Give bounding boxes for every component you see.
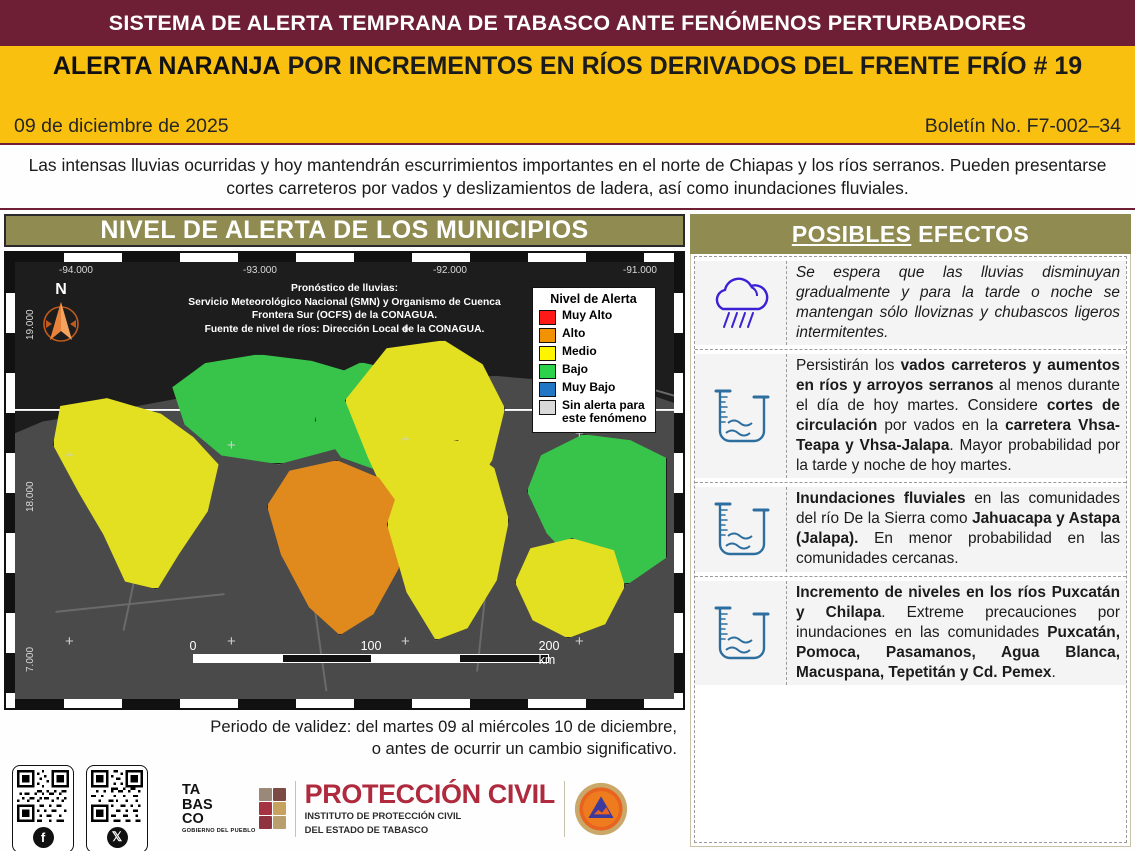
system-title-band: SISTEMA DE ALERTA TEMPRANA DE TABASCO AN…	[0, 0, 1135, 46]
bulletin-page: SISTEMA DE ALERTA TEMPRANA DE TABASCO AN…	[0, 0, 1135, 851]
tabasco-government-logo: TA BAS CO GOBIERNO DEL PUEBLO	[182, 783, 286, 834]
alert-meta: 09 de diciembre de 2025 Boletín No. F7-0…	[0, 115, 1135, 138]
x-twitter-icon: 𝕏	[107, 827, 128, 848]
effect-text-part: .	[1051, 664, 1055, 681]
map-y-tick: 7.000	[25, 647, 36, 672]
legend-swatch-sin-alerta	[539, 400, 556, 415]
map-legend: Nivel de Alerta Muy Alto Alto	[532, 287, 656, 433]
map-panel-header: NIVEL DE ALERTA DE LOS MUNICIPIOS	[4, 214, 685, 247]
map-neatline-left	[6, 253, 15, 708]
legend-title: Nivel de Alerta	[539, 292, 648, 306]
effect-icon-cell	[695, 487, 787, 571]
alert-band: ALERTA NARANJA POR INCREMENTOS EN RÍOS D…	[0, 46, 1135, 145]
map-x-tick: -91.000	[623, 265, 657, 276]
effects-panel-title: POSIBLES EFECTOS	[792, 221, 1029, 248]
scale-tick: 200 km	[539, 639, 560, 667]
brand-divider	[295, 781, 296, 837]
graticule-cross: +	[65, 448, 74, 463]
effect-icon-cell	[695, 581, 787, 685]
validity-line-2: o antes de ocurrir un cambio significati…	[4, 738, 677, 759]
legend-item-muy-alto: Muy Alto	[539, 309, 648, 325]
bulletin-date: 09 de diciembre de 2025	[14, 115, 229, 138]
map-x-tick: -92.000	[433, 265, 467, 276]
effects-title-underlined: POSIBLES	[792, 221, 912, 247]
validity-line-1: Periodo de validez: del martes 09 al mié…	[4, 716, 677, 737]
water-level-gauge-icon	[706, 383, 776, 449]
alert-level-label: ALERTA NARANJA	[53, 52, 281, 80]
map-x-tick: -93.000	[243, 265, 277, 276]
graticule-cross: +	[401, 322, 410, 337]
legend-swatch-alto	[539, 328, 556, 343]
legend-item-bajo: Bajo	[539, 363, 648, 379]
effect-item: Se espera que las lluvias disminuyan gra…	[695, 257, 1126, 350]
rain-cloud-icon	[709, 273, 773, 333]
effects-frame: Se espera que las lluvias disminuyan gra…	[694, 256, 1127, 843]
effect-icon-cell	[695, 261, 787, 345]
legend-label-alto: Alto	[562, 327, 585, 340]
tabasco-line-1: TA	[182, 783, 256, 798]
qr-x-twitter[interactable]: 𝕏	[86, 765, 148, 851]
map-canvas: + + + + + + + + + + -94.000 -93.000 -92.…	[15, 262, 674, 699]
system-title: SISTEMA DE ALERTA TEMPRANA DE TABASCO AN…	[109, 11, 1026, 36]
effect-item: Inundaciones fluviales en las comunidade…	[695, 483, 1126, 576]
summary-text: Las intensas lluvias ocurridas y hoy man…	[0, 145, 1135, 210]
effects-title-rest: EFECTOS	[911, 221, 1029, 247]
legend-swatch-muy-alto	[539, 310, 556, 325]
footer: f	[4, 765, 685, 851]
map-y-tick: 18.000	[25, 482, 36, 513]
legend-swatch-muy-bajo	[539, 382, 556, 397]
map-x-tick: -94.000	[59, 265, 93, 276]
scale-tick: 100	[361, 639, 382, 653]
map-column: NIVEL DE ALERTA DE LOS MUNICIPIOS	[4, 214, 685, 847]
map-scale-bar: 0 100 200 km	[193, 639, 549, 663]
effects-panel-header: POSIBLES EFECTOS	[690, 214, 1131, 254]
effect-text: Inundaciones fluviales en las comunidade…	[787, 487, 1126, 571]
brand-strip: TA BAS CO GOBIERNO DEL PUEBLO	[182, 781, 628, 837]
qr-facebook[interactable]: f	[12, 765, 74, 851]
map-neatline-right	[674, 253, 683, 708]
graticule-cross: +	[65, 634, 74, 649]
effect-text: Incremento de niveles en los ríos Puxcat…	[787, 581, 1126, 685]
effect-text-part-bold: Inundaciones fluviales	[796, 490, 966, 507]
map-neatline-bottom	[6, 699, 683, 708]
alert-reason-label: POR INCREMENTOS EN RÍOS DERIVADOS DEL FR…	[281, 52, 1083, 80]
proteccion-civil-seal-icon	[574, 782, 628, 836]
alert-map[interactable]: + + + + + + + + + + -94.000 -93.000 -92.…	[4, 251, 685, 710]
effects-panel: Se espera que las lluvias disminuyan gra…	[690, 254, 1131, 847]
tabasco-glyph-grid-icon	[259, 788, 286, 829]
bulletin-number: Boletín No. F7-002–34	[925, 115, 1121, 138]
compass-north-label: N	[39, 282, 83, 298]
effect-text-part: Se espera que las lluvias disminuyan gra…	[796, 264, 1120, 341]
legend-item-alto: Alto	[539, 327, 648, 343]
validity-note: Periodo de validez: del martes 09 al mié…	[4, 716, 685, 758]
qr-code-facebook-icon	[17, 770, 69, 822]
compass-rose: N	[39, 282, 83, 351]
water-level-gauge-icon	[706, 600, 776, 666]
facebook-icon: f	[33, 827, 54, 848]
proteccion-civil-sub-2: DEL ESTADO DE TABASCO	[305, 824, 555, 836]
legend-swatch-bajo	[539, 364, 556, 379]
legend-label-sin-alerta: Sin alerta para este fenómeno	[562, 399, 648, 425]
graticule-cross: +	[227, 438, 236, 453]
tabasco-line-2: BAS	[182, 798, 256, 813]
legend-label-muy-bajo: Muy Bajo	[562, 381, 615, 394]
water-level-gauge-icon	[706, 496, 776, 562]
map-panel-title: NIVEL DE ALERTA DE LOS MUNICIPIOS	[100, 216, 588, 245]
tabasco-line-3: CO	[182, 812, 256, 827]
tabasco-wordmark: TA BAS CO GOBIERNO DEL PUEBLO	[182, 783, 256, 834]
scale-bar-segments	[193, 654, 549, 663]
effect-text-part: por vados en la	[877, 417, 1005, 434]
effect-icon-cell	[695, 354, 787, 478]
proteccion-civil-sub-1: INSTITUTO DE PROTECCIÓN CIVIL	[305, 810, 555, 822]
graticule-cross: +	[401, 432, 410, 447]
alert-headline: ALERTA NARANJA POR INCREMENTOS EN RÍOS D…	[0, 46, 1135, 80]
map-neatline-top	[6, 253, 683, 262]
effect-text: Persistirán los vados carreteros y aumen…	[787, 354, 1126, 478]
proteccion-civil-title: PROTECCIÓN CIVIL	[305, 781, 555, 808]
scale-tick: 0	[190, 639, 197, 653]
qr-code-x-icon	[91, 770, 143, 822]
effect-text-part: Persistirán los	[796, 357, 901, 374]
proteccion-civil-lockup: PROTECCIÓN CIVIL INSTITUTO DE PROTECCIÓN…	[305, 781, 555, 836]
legend-item-sin-alerta: Sin alerta para este fenómeno	[539, 399, 648, 425]
legend-item-medio: Medio	[539, 345, 648, 361]
effect-item: Incremento de niveles en los ríos Puxcat…	[695, 577, 1126, 689]
legend-label-muy-alto: Muy Alto	[562, 309, 612, 322]
effect-text: Se espera que las lluvias disminuyan gra…	[787, 261, 1126, 345]
tabasco-subtitle: GOBIERNO DEL PUEBLO	[182, 829, 256, 835]
compass-needle-icon	[39, 298, 83, 346]
legend-swatch-medio	[539, 346, 556, 361]
effect-item: Persistirán los vados carreteros y aumen…	[695, 350, 1126, 483]
legend-label-bajo: Bajo	[562, 363, 588, 376]
legend-item-muy-bajo: Muy Bajo	[539, 381, 648, 397]
graticule-cross: +	[575, 634, 584, 649]
map-y-tick: 19.000	[25, 310, 36, 341]
effects-column: POSIBLES EFECTOS	[690, 214, 1131, 847]
body-columns: NIVEL DE ALERTA DE LOS MUNICIPIOS	[0, 210, 1135, 847]
brand-divider	[564, 781, 565, 837]
legend-label-medio: Medio	[562, 345, 597, 358]
